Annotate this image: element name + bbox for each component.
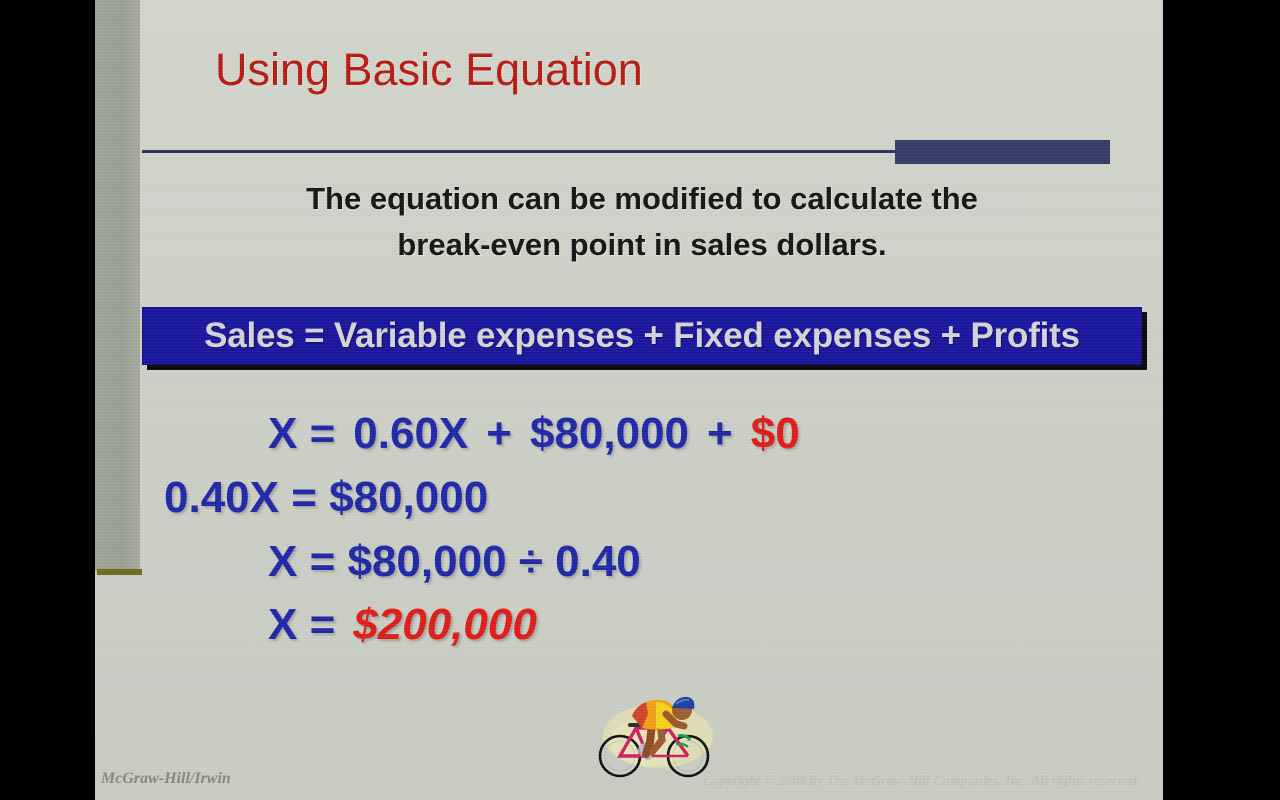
page-title: Using Basic Equation [215, 44, 643, 96]
equation-1-operator-1: + [486, 409, 512, 458]
subtitle-line-2: break-even point in sales dollars. [142, 222, 1142, 268]
presentation-slide: Using Basic Equation The equation can be… [95, 0, 1163, 800]
equation-line-3: X = $80,000 ÷ 0.40 [142, 530, 1142, 594]
equation-1-term-1: 0.60X [353, 409, 468, 458]
left-band-olive-rule [97, 569, 142, 575]
equation-line-4: X =$200,000 [142, 593, 1142, 657]
equation-4-lhs: X = [268, 600, 335, 649]
equation-line-2: 0.40X = $80,000 [142, 466, 1142, 530]
letterboxed-stage: Using Basic Equation The equation can be… [0, 0, 1280, 800]
equation-list: X =0.60X+$80,000+$0 0.40X = $80,000 X = … [142, 402, 1142, 657]
footer-copyright: Copyright © 2008 by The McGraw-Hill Comp… [703, 774, 1140, 790]
equation-1-lhs: X = [268, 409, 335, 458]
equation-line-1: X =0.60X+$80,000+$0 [142, 402, 1142, 466]
equation-1-term-3-highlight: $0 [751, 409, 800, 458]
left-decorative-band [95, 0, 140, 571]
cyclist-icon [590, 684, 730, 784]
banner-body: Sales = Variable expenses + Fixed expens… [142, 307, 1142, 365]
subtitle-text: The equation can be modified to calculat… [142, 176, 1142, 267]
title-divider-end-block [895, 140, 1110, 164]
footer-publisher: McGraw-Hill/Irwin [101, 770, 231, 788]
equation-1-operator-2: + [707, 409, 733, 458]
equation-1-term-2: $80,000 [530, 409, 689, 458]
equation-4-result-highlight: $200,000 [353, 600, 537, 649]
banner-equation-text: Sales = Variable expenses + Fixed expens… [204, 316, 1080, 356]
title-divider-rule [142, 150, 947, 153]
equation-banner: Sales = Variable expenses + Fixed expens… [142, 307, 1142, 365]
subtitle-line-1: The equation can be modified to calculat… [142, 176, 1142, 222]
